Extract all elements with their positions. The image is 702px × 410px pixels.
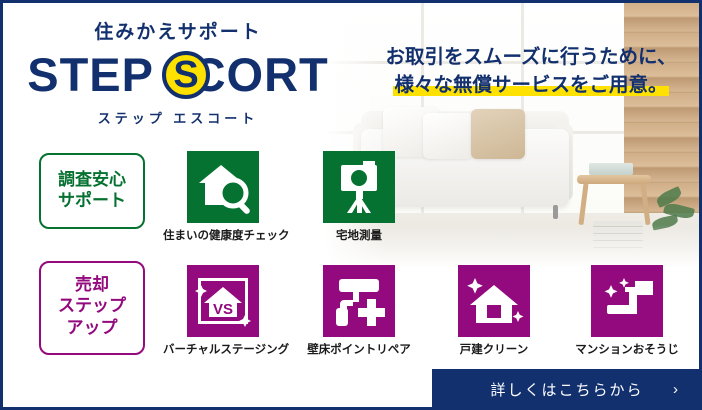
paint-roller-plus-icon	[323, 265, 395, 337]
logo-text-step: STEP	[27, 48, 154, 101]
service-house-clean[interactable]: 戸建クリーン	[458, 265, 530, 337]
badge-sale-line2: ステップ	[41, 295, 143, 316]
brand-subtitle: ステップ エスコート	[3, 108, 353, 127]
sparkle-house-icon	[458, 265, 530, 337]
books-on-table	[589, 163, 633, 175]
logo-text-cort: CORT	[192, 48, 329, 101]
headline-line-2: 様々な無償サービスをご用意。	[371, 71, 691, 99]
service-land-survey[interactable]: 宅地測量	[323, 151, 395, 223]
cushion-white	[423, 113, 473, 159]
sofa-leg	[553, 205, 558, 219]
brand-tagline: 住みかえサポート	[3, 17, 353, 44]
service-label: 壁床ポイントリペア	[299, 341, 419, 357]
service-label: 戸建クリーン	[434, 341, 554, 357]
service-home-health-check[interactable]: 住まいの健康度チェック	[187, 151, 259, 223]
badge-survey-support: 調査安心 サポート	[39, 153, 145, 229]
stepscort-promo-banner: 住みかえサポート STEPOCORT S ステップ エスコート お取引をスムーズ…	[0, 0, 702, 410]
logo-s-letter: S	[166, 55, 206, 95]
brand-logo-block: 住みかえサポート STEPOCORT S ステップ エスコート	[3, 17, 353, 127]
survey-tripod-icon	[323, 151, 395, 223]
cushion-beige	[471, 109, 525, 159]
house-magnifier-icon	[187, 151, 259, 223]
badge-survey-line1: 調査安心	[41, 169, 143, 190]
service-label: 住まいの健康度チェック	[163, 227, 283, 243]
details-cta-button[interactable]: 詳しくはこちらから ›	[432, 369, 702, 410]
brand-logotype: STEPOCORT S	[3, 48, 353, 102]
badge-sale-line1: 売却	[41, 274, 143, 295]
faucet-sparkle-icon	[591, 265, 663, 337]
logo-s-mark: S	[162, 51, 210, 99]
cta-label: 詳しくはこちらから	[490, 379, 643, 400]
headline-line-1: お取引をスムーズに行うために、	[371, 43, 691, 71]
headline-line-2-text: 様々な無償サービスをご用意。	[393, 74, 668, 96]
side-table-top	[577, 175, 651, 184]
svg-text:VS: VS	[213, 301, 233, 318]
service-virtual-staging[interactable]: VS バーチャルステージング	[187, 265, 259, 337]
badge-sale-line3: アップ	[41, 317, 143, 338]
service-label: バーチャルステージング	[163, 341, 283, 357]
badge-sale-stepup: 売却 ステップ アップ	[39, 261, 145, 355]
service-apartment-cleaning[interactable]: マンションおそうじ	[591, 265, 663, 337]
badge-survey-line2: サポート	[41, 190, 143, 211]
virtual-staging-vs-icon: VS	[187, 265, 259, 337]
service-label: 宅地測量	[299, 227, 419, 243]
chevron-right-icon: ›	[673, 381, 678, 398]
service-label: マンションおそうじ	[567, 341, 687, 357]
headline: お取引をスムーズに行うために、 様々な無償サービスをご用意。	[371, 43, 691, 100]
service-wall-floor-repair[interactable]: 壁床ポイントリペア	[323, 265, 395, 337]
